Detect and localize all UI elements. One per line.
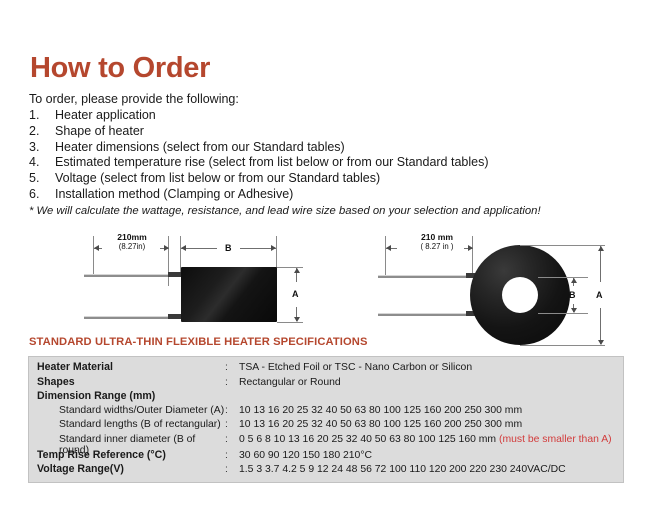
rect-dim-arrow-right (164, 245, 169, 251)
round-a-dim-line-top (600, 246, 601, 282)
row-value: Rectangular or Round (239, 377, 623, 388)
round-lead-wire-bottom (378, 313, 476, 316)
row-label: Dimension Range (mm) (29, 390, 225, 402)
rect-lead-wire-bottom (84, 316, 177, 319)
round-dim-arrow-right (468, 245, 473, 251)
rect-lead-crimp-bottom (168, 314, 182, 319)
list-item: 1. Heater application (29, 108, 589, 124)
row-colon: : (225, 450, 239, 461)
round-heater-hole (502, 277, 538, 313)
table-row: Temp Rise Reference (°C) : 30 60 90 120 … (29, 449, 623, 464)
round-b-arrow-down (571, 308, 577, 313)
row-value-warning: (must be smaller than A) (496, 434, 612, 445)
rect-lead-length-label: 210mm (8.27in) (96, 233, 168, 252)
row-value-text: TSA - Etched Foil or TSC - Nano Carbon o… (239, 362, 472, 373)
intro-text: To order, please provide the following: (29, 92, 239, 106)
row-colon: : (225, 419, 239, 430)
rect-b-arrow-right (271, 245, 276, 251)
list-item-label: Heater dimensions (select from our Stand… (55, 140, 589, 156)
list-item: 4. Estimated temperature rise (select fr… (29, 155, 589, 171)
rect-heater-body (181, 267, 277, 322)
round-ext-line-left (385, 236, 386, 276)
rect-a-ext-bottom (277, 322, 303, 323)
rect-b-arrow-left (181, 245, 186, 251)
row-value-text: 10 13 16 20 25 32 40 50 63 80 100 125 16… (239, 419, 522, 430)
table-row: Standard widths/Outer Diameter (A) : 10 … (29, 405, 623, 420)
rect-width-label-b: B (225, 243, 232, 253)
heater-diagrams: 210mm (8.27in) B (0, 228, 650, 343)
table-row: Dimension Range (mm) (29, 390, 623, 405)
list-item-label: Estimated temperature rise (select from … (55, 155, 589, 171)
rect-ext-line-left (93, 236, 94, 276)
list-item-number: 2. (29, 124, 55, 140)
order-steps-list: 1. Heater application 2. Shape of heater… (29, 108, 589, 203)
row-value: 1.5 3 3.7 4.2 5 9 12 24 48 56 72 100 110… (239, 464, 623, 475)
rect-ext-line-right (168, 236, 169, 286)
row-value: TSA - Etched Foil or TSC - Nano Carbon o… (239, 362, 623, 373)
row-label: Voltage Range(V) (29, 463, 225, 475)
row-value-text: 0 5 6 8 10 13 16 20 25 32 40 50 63 80 10… (239, 434, 496, 445)
list-item-number: 3. (29, 140, 55, 156)
row-value: 0 5 6 8 10 13 16 20 25 32 40 50 63 80 10… (239, 434, 623, 445)
table-row: Standard inner diameter (B of round) : 0… (29, 434, 623, 449)
round-a-ext-bottom (520, 345, 605, 346)
row-label: Shapes (29, 376, 225, 388)
row-label: Standard widths/Outer Diameter (A) (29, 405, 225, 416)
round-a-arrow-down (598, 340, 604, 345)
spec-section-title: STANDARD ULTRA-THIN FLEXIBLE HEATER SPEC… (29, 336, 368, 348)
rect-lead-wire-top (84, 274, 177, 277)
rect-a-arrow-up (294, 268, 300, 273)
round-ext-line-right (472, 236, 473, 276)
row-label: Standard lengths (B of rectangular) (29, 419, 225, 430)
list-item-label: Voltage (select from list below or from … (55, 171, 589, 187)
page-title: How to Order (30, 52, 210, 85)
rect-a-arrow-down (294, 317, 300, 322)
list-item-label: Shape of heater (55, 124, 589, 140)
round-a-ext-top (520, 245, 605, 246)
list-item: 2. Shape of heater (29, 124, 589, 140)
how-to-order-page: How to Order To order, please provide th… (0, 0, 650, 523)
table-row: Standard lengths (B of rectangular) : 10… (29, 419, 623, 434)
table-row: Shapes : Rectangular or Round (29, 376, 623, 391)
row-label: Heater Material (29, 361, 225, 373)
row-value-text: 30 60 90 120 150 180 210°C (239, 450, 372, 461)
row-colon: : (225, 464, 239, 475)
round-b-ext-bottom (538, 313, 588, 314)
round-lead-wire-top (378, 275, 476, 278)
list-item-number: 1. (29, 108, 55, 124)
round-dim-arrow-left (386, 245, 391, 251)
row-value: 10 13 16 20 25 32 40 50 63 80 100 125 16… (239, 419, 623, 430)
row-value: 10 13 16 20 25 32 40 50 63 80 100 125 16… (239, 405, 623, 416)
list-item: 5. Voltage (select from list below or fr… (29, 171, 589, 187)
rect-b-dim-line-left (181, 248, 217, 249)
table-row: Voltage Range(V) : 1.5 3 3.7 4.2 5 9 12 … (29, 463, 623, 478)
round-a-dim-line-bottom (600, 308, 601, 344)
row-value-text: Rectangular or Round (239, 377, 341, 388)
table-row: Heater Material : TSA - Etched Foil or T… (29, 361, 623, 376)
row-label: Temp Rise Reference (°C) (29, 449, 225, 461)
rect-dim-arrow-left (94, 245, 99, 251)
list-item-number: 5. (29, 171, 55, 187)
row-colon: : (225, 362, 239, 373)
round-b-ext-top (538, 277, 588, 278)
list-item-number: 6. (29, 187, 55, 203)
rect-height-label-a: A (292, 289, 299, 299)
row-colon: : (225, 377, 239, 388)
list-item-label: Heater application (55, 108, 589, 124)
list-item-label: Installation method (Clamping or Adhesiv… (55, 187, 589, 203)
row-value: 30 60 90 120 150 180 210°C (239, 450, 623, 461)
rect-b-ext-right (276, 236, 277, 271)
round-b-arrow-up (571, 278, 577, 283)
row-value-text: 1.5 3 3.7 4.2 5 9 12 24 48 56 72 100 110… (239, 464, 566, 475)
list-item: 6. Installation method (Clamping or Adhe… (29, 187, 589, 203)
specifications-table: Heater Material : TSA - Etched Foil or T… (28, 356, 624, 483)
calculation-note: * We will calculate the wattage, resista… (29, 205, 541, 217)
round-inner-diameter-label-b: B (569, 290, 576, 300)
row-colon: : (225, 405, 239, 416)
row-colon: : (225, 434, 239, 445)
rect-lead-crimp-top (168, 272, 182, 277)
round-outer-diameter-label-a: A (596, 290, 603, 300)
list-item: 3. Heater dimensions (select from our St… (29, 140, 589, 156)
list-item-number: 4. (29, 155, 55, 171)
round-a-arrow-up (598, 246, 604, 251)
row-value-text: 10 13 16 20 25 32 40 50 63 80 100 125 16… (239, 405, 522, 416)
